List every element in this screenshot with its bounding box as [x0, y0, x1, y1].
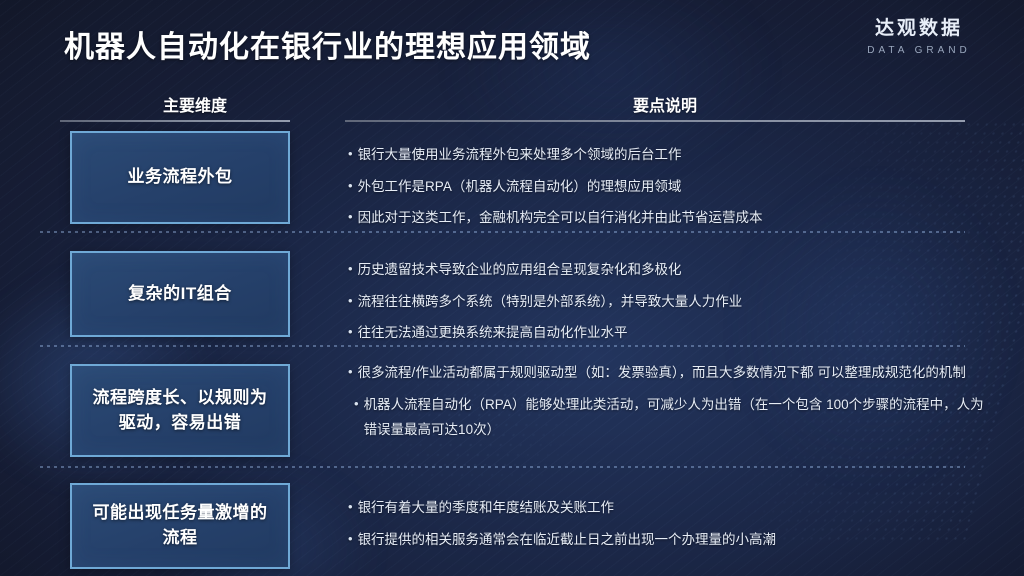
- bullet-text: 流程往往横跨多个系统（特别是外部系统），并导致大量人力作业: [358, 289, 988, 315]
- bullet-text: 历史遗留技术导致企业的应用组合呈现复杂化和多极化: [358, 257, 988, 283]
- dimension-box[interactable]: 可能出现任务量激增的 流程: [70, 483, 290, 569]
- bullet-point: •往往无法通过更换系统来提高自动化作业水平: [348, 320, 988, 346]
- dimension-box[interactable]: 流程跨度长、以规则为 驱动，容易出错: [70, 364, 290, 457]
- column-header-dimension: 主要维度: [60, 92, 330, 116]
- brand-name-cn: 达观数据: [844, 18, 994, 41]
- dimension-label: 可能出现任务量激增的 流程: [85, 501, 276, 550]
- bullet-dot-icon: •: [348, 174, 353, 200]
- brand-logo: 达观数据 DATA GRAND: [844, 18, 994, 56]
- bullet-point: •银行提供的相关服务通常会在临近截止日之前出现一个办理量的小高潮: [348, 527, 988, 553]
- bullet-point: •因此对于这类工作，金融机构完全可以自行消化并由此节省运营成本: [348, 205, 988, 231]
- bullet-point: •很多流程/作业活动都属于规则驱动型（如：发票验真），而且大多数情况下都 可以整…: [348, 360, 988, 386]
- bullet-text: 外包工作是RPA（机器人流程自动化）的理想应用领域: [358, 174, 988, 200]
- bullet-point: •历史遗留技术导致企业的应用组合呈现复杂化和多极化: [348, 257, 988, 283]
- bullet-dot-icon: •: [348, 205, 353, 231]
- page-title: 机器人自动化在银行业的理想应用领域: [64, 22, 591, 66]
- bullet-text: 银行大量使用业务流程外包来处理多个领域的后台工作: [358, 142, 988, 168]
- bullet-dot-icon: •: [348, 257, 353, 283]
- points-list: •银行大量使用业务流程外包来处理多个领域的后台工作•外包工作是RPA（机器人流程…: [348, 142, 988, 231]
- points-list: •很多流程/作业活动都属于规则驱动型（如：发票验真），而且大多数情况下都 可以整…: [348, 360, 988, 443]
- bullet-dot-icon: •: [348, 360, 353, 386]
- points-list: •历史遗留技术导致企业的应用组合呈现复杂化和多极化•流程往往横跨多个系统（特别是…: [348, 257, 988, 346]
- bullet-point: •银行有着大量的季度和年度结账及关账工作: [348, 495, 988, 521]
- bullet-dot-icon: •: [348, 320, 353, 346]
- bullet-point: •外包工作是RPA（机器人流程自动化）的理想应用领域: [348, 174, 988, 200]
- row-separator: [40, 231, 965, 233]
- bullet-text: 银行提供的相关服务通常会在临近截止日之前出现一个办理量的小高潮: [358, 527, 988, 553]
- bullet-text: 往往无法通过更换系统来提高自动化作业水平: [358, 320, 988, 346]
- column-rule-right: [345, 120, 965, 122]
- bullet-point: •银行大量使用业务流程外包来处理多个领域的后台工作: [348, 142, 988, 168]
- bullet-text: 银行有着大量的季度和年度结账及关账工作: [358, 495, 988, 521]
- dimension-box[interactable]: 业务流程外包: [70, 131, 290, 224]
- bullet-dot-icon: •: [348, 495, 353, 521]
- dimension-box[interactable]: 复杂的IT组合: [70, 251, 290, 337]
- bullet-dot-icon: •: [348, 142, 353, 168]
- points-list: •银行有着大量的季度和年度结账及关账工作•银行提供的相关服务通常会在临近截止日之…: [348, 495, 988, 552]
- bullet-text: 很多流程/作业活动都属于规则驱动型（如：发票验真），而且大多数情况下都 可以整理…: [358, 360, 988, 386]
- bullet-text: 机器人流程自动化（RPA）能够处理此类活动，可减少人为出错（在一个包含 100个…: [364, 392, 988, 443]
- dimension-label: 复杂的IT组合: [120, 282, 240, 307]
- bullet-text: 因此对于这类工作，金融机构完全可以自行消化并由此节省运营成本: [358, 205, 988, 231]
- bullet-point: •机器人流程自动化（RPA）能够处理此类活动，可减少人为出错（在一个包含 100…: [348, 392, 988, 443]
- dimension-label: 业务流程外包: [120, 165, 241, 190]
- bullet-dot-icon: •: [348, 527, 353, 553]
- bullet-dot-icon: •: [348, 289, 353, 315]
- bullet-point: •流程往往横跨多个系统（特别是外部系统），并导致大量人力作业: [348, 289, 988, 315]
- brand-name-en: DATA GRAND: [844, 45, 994, 56]
- dimension-label: 流程跨度长、以规则为 驱动，容易出错: [85, 386, 276, 435]
- bullet-dot-icon: •: [354, 392, 359, 443]
- column-rule-left: [60, 120, 290, 122]
- row-separator: [40, 466, 965, 468]
- column-header-details: 要点说明: [345, 92, 985, 116]
- slide-canvas: 机器人自动化在银行业的理想应用领域 达观数据 DATA GRAND 主要维度 要…: [0, 0, 1024, 576]
